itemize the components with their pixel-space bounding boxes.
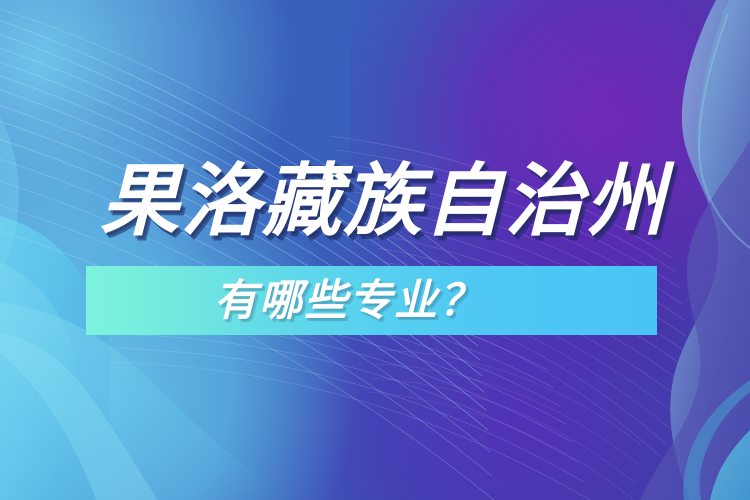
page-title: 果洛藏族自治州: [100, 152, 667, 250]
promo-banner: 果洛藏族自治州 有哪些专业？: [0, 0, 750, 500]
subtitle-text: 有哪些专业？: [214, 272, 484, 330]
depth-shading: [0, 0, 750, 500]
